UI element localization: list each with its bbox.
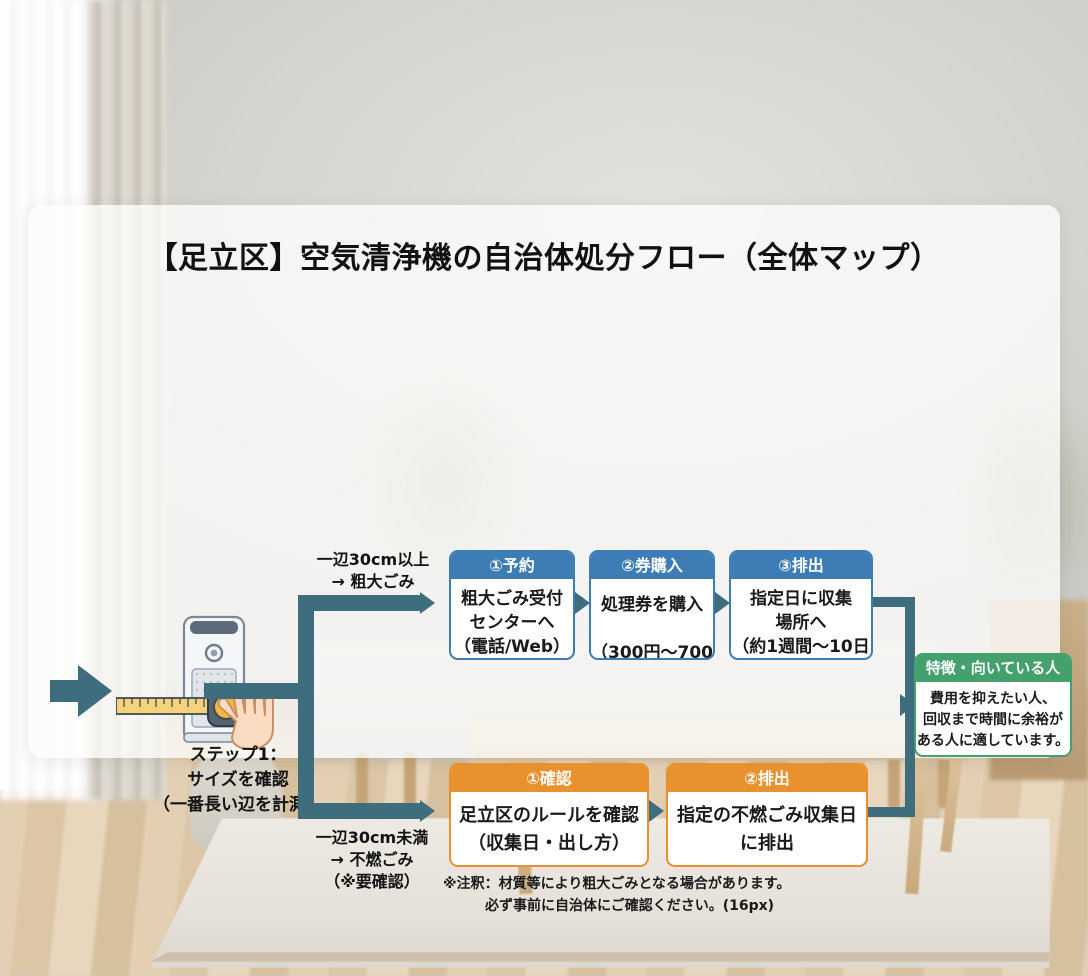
entry-arrow-tail	[50, 680, 82, 702]
merge-arrow-icon	[900, 694, 915, 716]
sofa-leg	[888, 752, 900, 808]
infographic-card: 【足立区】空気清浄機の自治体処分フロー（全体マップ）	[28, 205, 1060, 758]
area-rug-edge	[150, 952, 1050, 962]
entry-arrow-icon	[78, 665, 112, 717]
flow-node-disposal-noncombustible[interactable]: ②排出 指定の不燃ごみ収集日 に排出	[666, 763, 868, 867]
flow-node-body: 粗大ごみ受付 センターへ （電話/Web）	[451, 579, 573, 659]
lower-branch-label: 一辺30cm未満 → 不燃ごみ （※要確認）	[286, 827, 458, 893]
flow-node-header: ③排出	[731, 552, 871, 579]
split-trunk	[298, 595, 314, 819]
flow-node-header: ①予約	[451, 552, 573, 579]
connector-arrow-o1-o2-icon	[649, 800, 664, 822]
flow-node-body: 指定日に収集 場所へ （約1週間〜10日後）	[731, 579, 871, 660]
flow-node-reservation[interactable]: ①予約 粗大ごみ受付 センターへ （電話/Web）	[449, 550, 575, 660]
result-box-header: 特徴・向いている人	[916, 655, 1070, 682]
page-title: 【足立区】空気清浄機の自治体処分フロー（全体マップ）	[28, 233, 1060, 277]
flow-node-body: 指定の不燃ごみ収集日 に排出	[668, 792, 866, 858]
lower-branch-line	[298, 803, 422, 819]
footnote-text: ※注釈：材質等により粗大ごみとなる場合があります。 必ず事前に自治体にご確認くだ…	[443, 873, 873, 917]
upper-branch-label: 一辺30cm以上 → 粗大ごみ	[288, 549, 458, 593]
flow-node-header: ②排出	[668, 765, 866, 792]
background-scene: 【足立区】空気清浄機の自治体処分フロー（全体マップ）	[0, 0, 1088, 976]
flow-node-header: ②券購入	[591, 552, 713, 579]
result-box-characteristics[interactable]: 特徴・向いている人 費用を抑えたい人、 回収まで時間に余裕が ある人に適していま…	[914, 653, 1072, 757]
sofa-leg	[404, 752, 416, 808]
lower-branch-arrow-icon	[420, 800, 435, 822]
flow-node-check-rules[interactable]: ①確認 足立区のルールを確認 （収集日・出し方）	[449, 763, 649, 867]
connector-arrow-b1-b2-icon	[575, 592, 590, 614]
flow-node-header: ①確認	[451, 765, 647, 792]
sofa-leg	[356, 752, 368, 808]
upper-branch-line	[298, 595, 422, 611]
result-box-body: 費用を抑えたい人、 回収まで時間に余裕が ある人に適しています。	[916, 682, 1070, 752]
upper-branch-arrow-icon	[420, 592, 435, 614]
connector-arrow-b2-b3-icon	[715, 592, 730, 614]
flow-node-disposal-bulky[interactable]: ③排出 指定日に収集 場所へ （約1週間〜10日後）	[729, 550, 873, 660]
flow-node-body: 足立区のルールを確認 （収集日・出し方）	[451, 792, 647, 858]
flow-node-body: 処理券を購入 （300円〜700円）	[591, 579, 713, 660]
flow-node-ticket-purchase[interactable]: ②券購入 処理券を購入 （300円〜700円）	[589, 550, 715, 660]
